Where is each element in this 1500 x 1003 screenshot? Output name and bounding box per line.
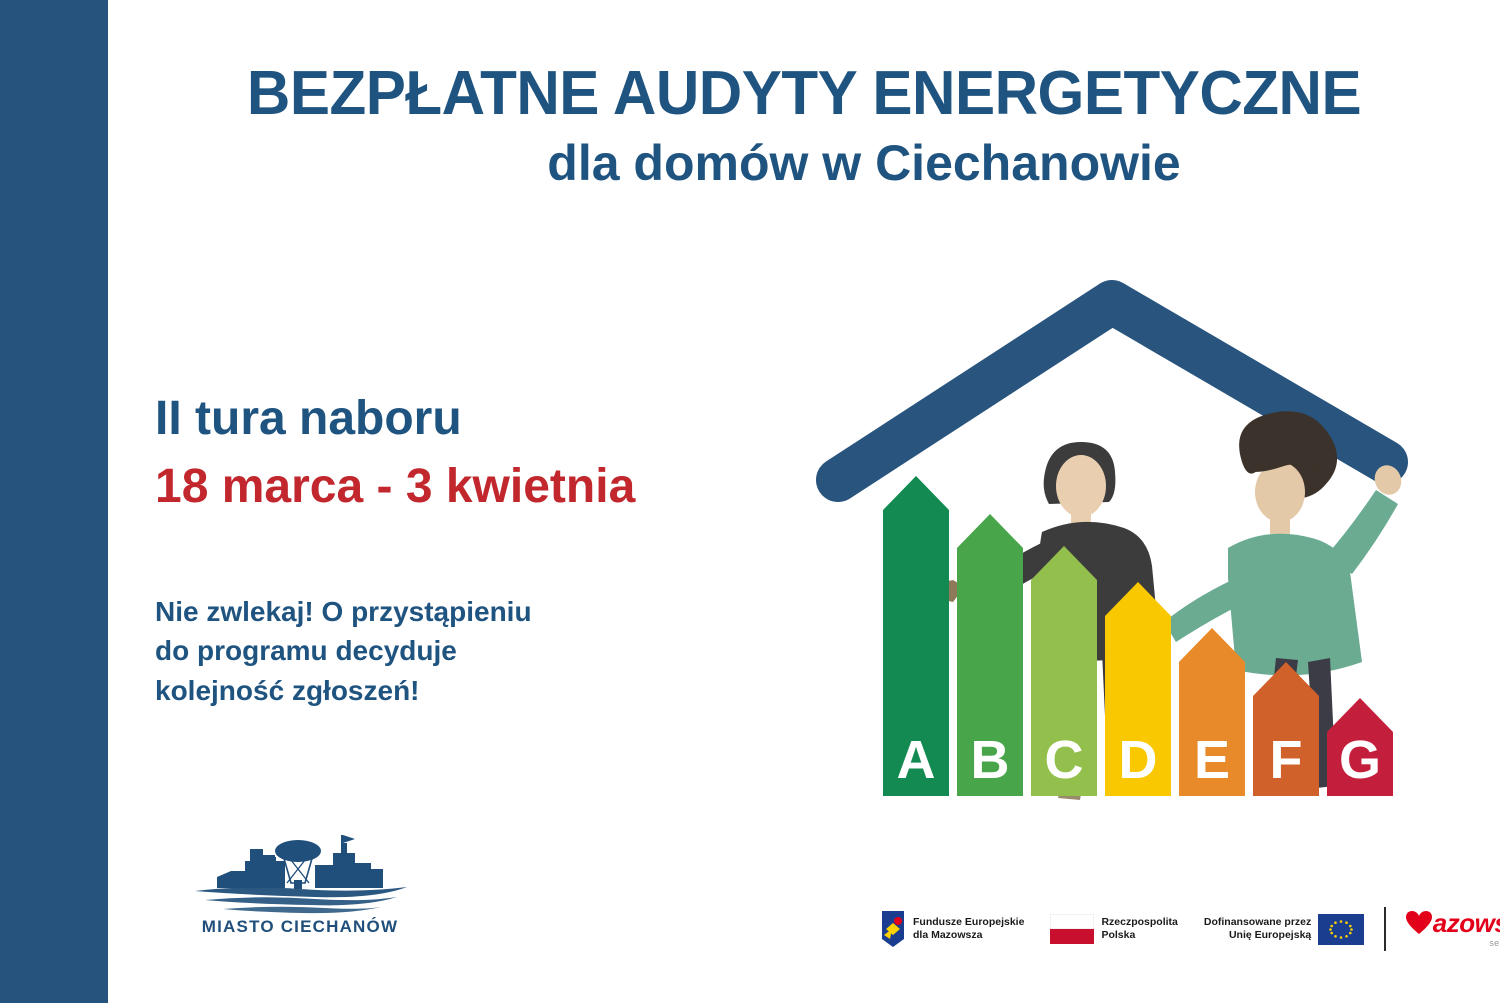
bar-letter-F: F bbox=[1270, 730, 1303, 790]
bar-letter-G: G bbox=[1339, 730, 1381, 790]
eu-flag-icon bbox=[1318, 914, 1364, 945]
note-text: Nie zwlekaj! O przystąpieniu do programu… bbox=[155, 592, 855, 711]
left-blue-sidebar bbox=[0, 0, 108, 1003]
note-line-2: do programu decyduje bbox=[155, 631, 855, 671]
logo-eu-line1: Dofinansowane przez bbox=[1204, 916, 1311, 929]
logo-mazowsze: azowsze. serce Polski bbox=[1406, 910, 1500, 948]
heart-icon bbox=[1406, 911, 1432, 935]
date-range: 18 marca - 3 kwietnia bbox=[155, 460, 855, 514]
logo-rzeczpospolita-line2: Polska bbox=[1101, 929, 1177, 942]
copy-block: II tura naboru 18 marca - 3 kwietnia Nie… bbox=[155, 392, 855, 711]
logo-fundusze-line1: Fundusze Europejskie bbox=[913, 916, 1024, 929]
city-logo: MIASTO CIECHANÓW bbox=[175, 825, 425, 945]
mazowsze-tagline: serce Polski bbox=[1489, 938, 1500, 948]
logo-dofinansowane-ue: Dofinansowane przez Unię Europejską bbox=[1204, 914, 1364, 945]
note-line-3: kolejność zgłoszeń! bbox=[155, 671, 855, 711]
page-title: BEZPŁATNE AUDYTY ENERGETYCZNE bbox=[129, 62, 1479, 125]
poster-canvas: BEZPŁATNE AUDYTY ENERGETYCZNE dla domów … bbox=[0, 0, 1500, 1003]
bar-letter-B: B bbox=[971, 730, 1010, 790]
headline-block: BEZPŁATNE AUDYTY ENERGETYCZNE dla domów … bbox=[108, 62, 1500, 190]
bar-letter-A: A bbox=[897, 730, 936, 790]
note-line-1: Nie zwlekaj! O przystąpieniu bbox=[155, 592, 855, 632]
logo-rzeczpospolita-caption: Rzeczpospolita Polska bbox=[1101, 916, 1177, 942]
city-logo-label: MIASTO CIECHANÓW bbox=[175, 917, 425, 937]
mazowsze-wordmark: azowsze. bbox=[1406, 910, 1500, 936]
logo-rzeczpospolita-line1: Rzeczpospolita bbox=[1101, 916, 1177, 929]
page-subtitle: dla domów w Ciechanowie bbox=[228, 137, 1500, 190]
logo-eu-line2: Unię Europejską bbox=[1204, 929, 1311, 942]
logo-fundusze-line2: dla Mazowsza bbox=[913, 929, 1024, 942]
funduszeeuropejskie-icon bbox=[880, 909, 906, 949]
mazowsze-label: azowsze. bbox=[1433, 910, 1500, 936]
polish-flag-icon bbox=[1050, 914, 1094, 944]
energy-house-illustration: A B C D E F G bbox=[790, 280, 1470, 820]
logo-fundusze-europejskie: Fundusze Europejskie dla Mazowsza bbox=[880, 909, 1024, 949]
footer-divider bbox=[1384, 907, 1386, 951]
logo-rzeczpospolita-polska: Rzeczpospolita Polska bbox=[1050, 914, 1177, 944]
bar-letter-D: D bbox=[1119, 730, 1158, 790]
footer-logo-strip: Fundusze Europejskie dla Mazowsza Rzeczp… bbox=[880, 898, 1500, 960]
logo-fundusze-caption: Fundusze Europejskie dla Mazowsza bbox=[913, 916, 1024, 942]
bar-letter-C: C bbox=[1045, 730, 1084, 790]
city-skyline-icon bbox=[175, 825, 425, 915]
logo-eu-caption: Dofinansowane przez Unię Europejską bbox=[1204, 916, 1311, 942]
bar-letter-E: E bbox=[1194, 730, 1230, 790]
round-label: II tura naboru bbox=[155, 392, 855, 446]
